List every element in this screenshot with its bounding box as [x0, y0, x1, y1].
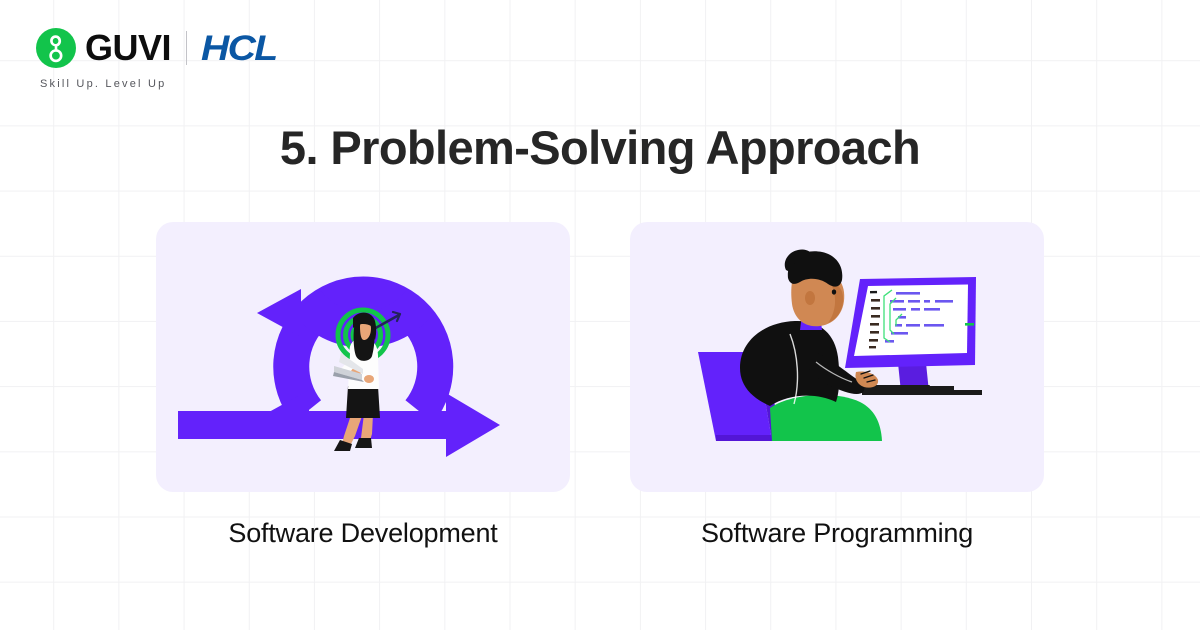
- code-editor-screen: [854, 285, 968, 357]
- brand-logo-row: GUVI HCL: [36, 26, 268, 70]
- card-software-development[interactable]: [156, 222, 570, 492]
- agile-cycle-target-woman-laptop-illustration: [156, 222, 570, 492]
- caption-software-development: Software Development: [156, 518, 570, 549]
- brand-bar: GUVI HCL Skill Up. Level Up: [36, 26, 268, 90]
- card-software-programming[interactable]: [630, 222, 1044, 492]
- brand-tagline: Skill Up. Level Up: [40, 78, 166, 90]
- guvi-g-mark-icon: [36, 28, 76, 68]
- developer-at-desktop-coding-illustration: [630, 222, 1044, 492]
- hcl-wordmark: HCL: [201, 31, 277, 66]
- caption-software-programming: Software Programming: [630, 518, 1044, 549]
- page-title: 5. Problem-Solving Approach: [0, 122, 1200, 174]
- brand-divider: [186, 31, 187, 65]
- guvi-wordmark: GUVI: [85, 30, 171, 66]
